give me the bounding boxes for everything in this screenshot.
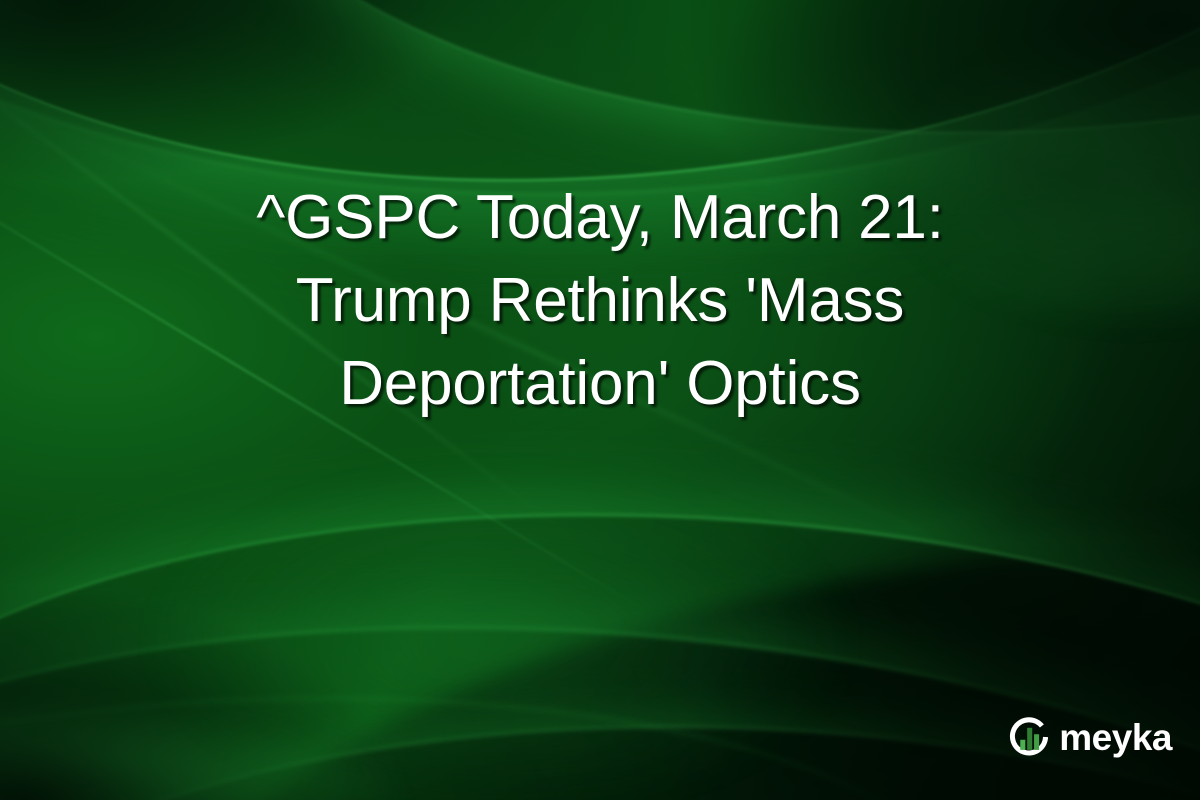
meyka-logo: meyka — [1006, 714, 1172, 760]
headline: ^GSPC Today, March 21: Trump Rethinks 'M… — [0, 176, 1200, 425]
logo-bar-2 — [1027, 728, 1032, 750]
glow-center — [150, 470, 850, 800]
glow-lower-left — [0, 671, 405, 800]
light-streak-bottom-4 — [0, 661, 993, 800]
share-card: ^GSPC Today, March 21: Trump Rethinks 'M… — [0, 0, 1200, 800]
light-streak-top-3 — [160, 0, 1200, 176]
logo-wordmark: meyka — [1059, 719, 1172, 756]
headline-line-1: ^GSPC Today, March 21: — [0, 176, 1200, 259]
headline-line-2: Trump Rethinks 'Mass — [0, 259, 1200, 342]
meyka-circular-bar-chart-mark — [1006, 714, 1052, 760]
headline-line-3: Deportation' Optics — [0, 342, 1200, 425]
logo-bar-3 — [1034, 734, 1039, 750]
logo-bar-1 — [1021, 740, 1026, 750]
